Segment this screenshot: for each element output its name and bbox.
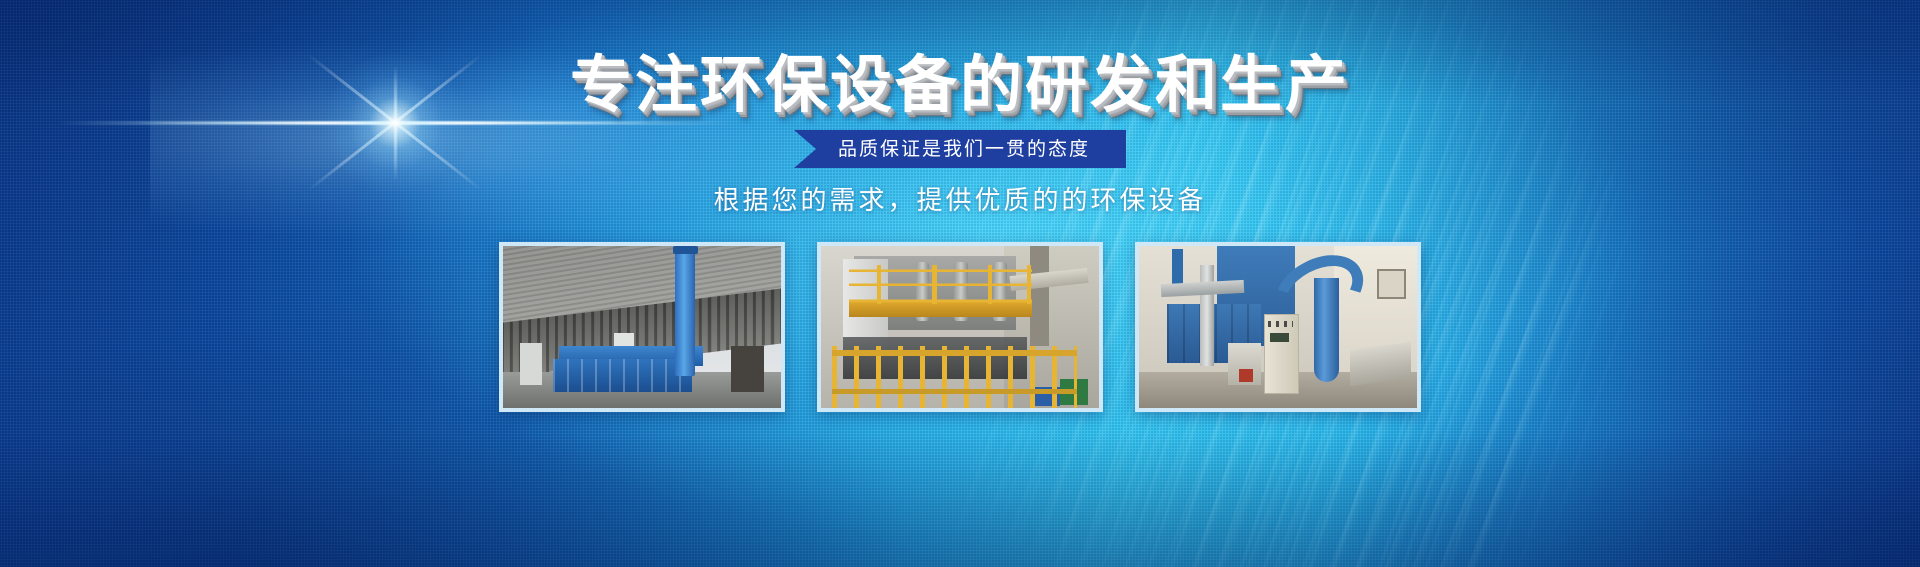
- photo-factory-exterior: [499, 242, 785, 412]
- photo-platform-equipment: [817, 242, 1103, 412]
- page-title: 专注环保设备的研发和生产: [0, 54, 1920, 116]
- status-badge: 品质保证是我们一贯的态度: [794, 130, 1126, 168]
- badge-row: 品质保证是我们一贯的态度: [0, 130, 1920, 168]
- photo-blue-dust-collector: [1135, 242, 1421, 412]
- hero-banner: 专注环保设备的研发和生产 品质保证是我们一贯的态度 根据您的需求，提供优质的的环…: [0, 0, 1920, 567]
- photo-gallery: [0, 242, 1920, 412]
- banner-content: 专注环保设备的研发和生产 品质保证是我们一贯的态度 根据您的需求，提供优质的的环…: [0, 0, 1920, 567]
- subtitle: 根据您的需求，提供优质的的环保设备: [0, 180, 1920, 217]
